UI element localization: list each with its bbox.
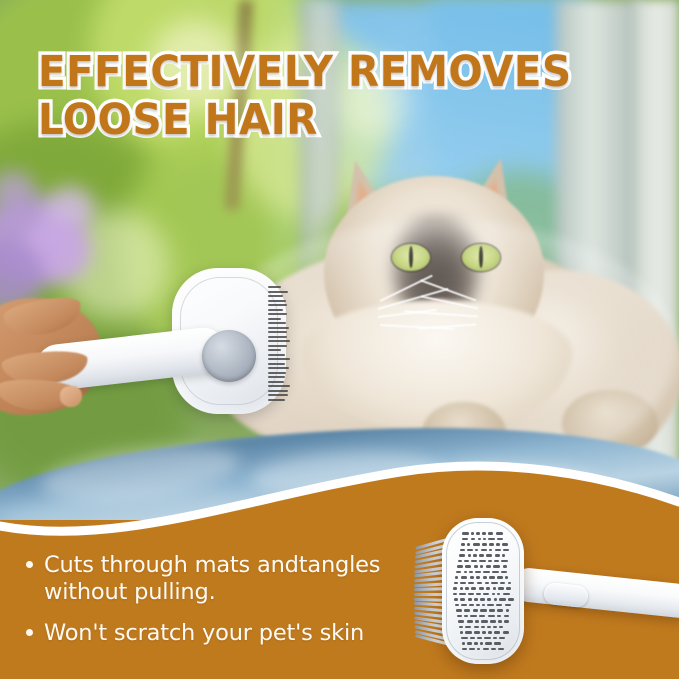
cat-pupil-left: [409, 246, 413, 268]
bottom-brush-product: [392, 500, 679, 679]
bullet-text: Cuts through mats andtangles without pul…: [44, 552, 416, 606]
top-brush-pins: [268, 286, 292, 404]
cat-pupil-right: [479, 246, 483, 268]
list-item: Won't scratch your pet's skin: [26, 620, 416, 647]
list-item: Cuts through mats andtangles without pul…: [26, 552, 416, 606]
bottom-brush-handle: [511, 566, 679, 619]
feature-bullet-list: Cuts through mats andtangles without pul…: [26, 552, 416, 661]
page-title: EFFECTIVELY REMOVES LOOSE HAIR: [38, 48, 611, 144]
bullet-dot-icon: [26, 629, 33, 636]
bullet-text: Won't scratch your pet's skin: [44, 620, 364, 647]
bullet-dot-icon: [26, 561, 33, 568]
bottom-brush-slots: [453, 532, 515, 652]
product-infographic-poster: EFFECTIVELY REMOVES LOOSE HAIR Cuts thro…: [0, 0, 679, 679]
headline-line-2: LOOSE HAIR: [38, 96, 611, 144]
top-brush-release-button: [202, 330, 256, 382]
headline-line-1: EFFECTIVELY REMOVES: [38, 48, 611, 96]
